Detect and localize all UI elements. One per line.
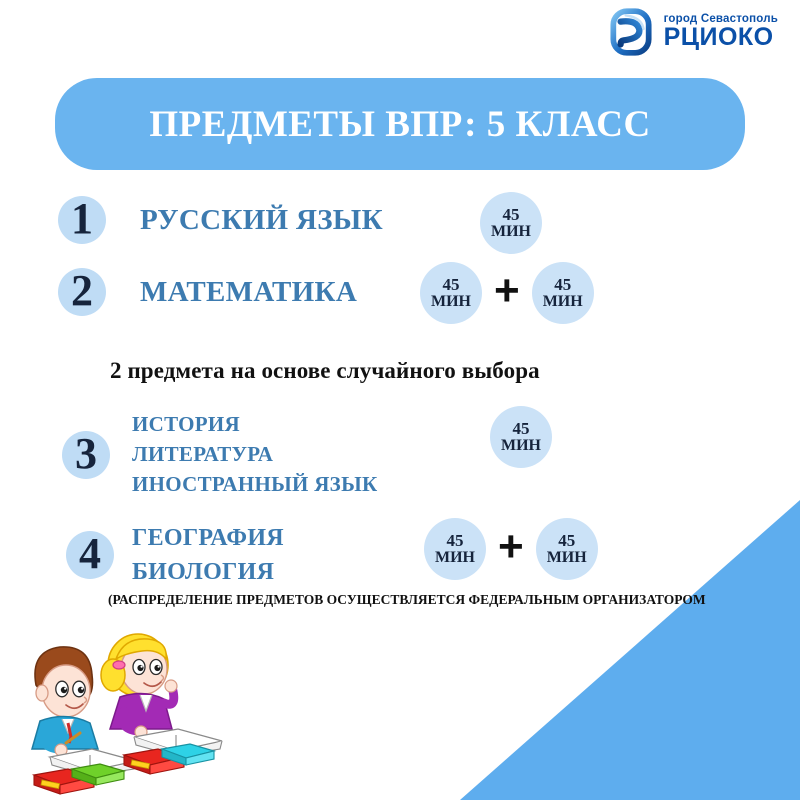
logo-text-block: город Севастополь РЦИОКО <box>664 14 778 50</box>
subject-list-row-3: ИСТОРИЯ ЛИТЕРАТУРА ИНОСТРАННЫЙ ЯЗЫК <box>132 410 378 499</box>
organization-logo: город Севастополь РЦИОКО <box>605 6 778 58</box>
book-stack <box>124 744 214 774</box>
subject-label-biology: БИОЛОГИЯ <box>132 555 284 589</box>
subject-label-foreign-language: ИНОСТРАННЫЙ ЯЗЫК <box>132 470 378 500</box>
row-number-4: 4 <box>79 532 101 576</box>
row-number-badge-3: 3 <box>62 431 110 479</box>
subject-row-4: 4 ГЕОГРАФИЯ БИОЛОГИЯ <box>66 521 284 589</box>
infographic-page: город Севастополь РЦИОКО ПРЕДМЕТЫ ВПР: 5… <box>0 0 800 800</box>
subject-label-russian: РУССКИЙ ЯЗЫК <box>140 204 383 237</box>
time-value: 45 <box>558 532 575 550</box>
subject-row-3: 3 ИСТОРИЯ ЛИТЕРАТУРА ИНОСТРАННЫЙ ЯЗЫК <box>62 410 378 499</box>
time-circle: 45 МИН <box>536 518 598 580</box>
time-value: 45 <box>503 206 520 224</box>
title-banner: ПРЕДМЕТЫ ВПР: 5 КЛАСС <box>55 78 745 170</box>
time-group-row-4: 45 МИН + 45 МИН <box>424 518 598 580</box>
plus-icon: + <box>494 269 520 317</box>
logo-name-label: РЦИОКО <box>664 26 774 50</box>
time-unit: МИН <box>543 294 583 311</box>
time-circle: 45 МИН <box>490 406 552 468</box>
row-number-badge-4: 4 <box>66 531 114 579</box>
time-unit: МИН <box>501 438 541 455</box>
time-group-row-1: 45 МИН <box>480 192 542 254</box>
row-number-badge-2: 2 <box>58 268 106 316</box>
time-circle: 45 МИН <box>532 262 594 324</box>
plus-icon: + <box>498 525 524 573</box>
time-unit: МИН <box>431 294 471 311</box>
subject-list-row-4: ГЕОГРАФИЯ БИОЛОГИЯ <box>132 521 284 589</box>
subject-label-literature: ЛИТЕРАТУРА <box>132 440 378 470</box>
page-title: ПРЕДМЕТЫ ВПР: 5 КЛАСС <box>149 103 650 146</box>
random-choice-note: 2 предмета на основе случайного выбора <box>110 358 540 384</box>
boy-figure <box>32 647 98 756</box>
time-unit: МИН <box>435 550 475 567</box>
time-circle: 45 МИН <box>480 192 542 254</box>
subject-label-geography: ГЕОГРАФИЯ <box>132 521 284 555</box>
time-value: 45 <box>447 532 464 550</box>
time-unit: МИН <box>547 550 587 567</box>
time-group-row-3: 45 МИН <box>490 406 552 468</box>
row-number-3: 3 <box>75 432 97 476</box>
time-group-row-2: 45 МИН + 45 МИН <box>420 262 594 324</box>
time-value: 45 <box>443 276 460 294</box>
time-value: 45 <box>554 276 571 294</box>
row-number-1: 1 <box>71 197 93 241</box>
time-unit: МИН <box>491 224 531 241</box>
girl-figure <box>101 634 177 738</box>
two-pupils-studying-illustration <box>8 623 248 798</box>
row-number-2: 2 <box>71 269 93 313</box>
book-stack <box>34 764 124 794</box>
time-value: 45 <box>513 420 530 438</box>
subject-label-history: ИСТОРИЯ <box>132 410 378 440</box>
rtsioko-emblem-icon <box>605 6 657 58</box>
time-circle: 45 МИН <box>420 262 482 324</box>
footnote-text: (РАСПРЕДЕЛЕНИЕ ПРЕДМЕТОВ ОСУЩЕСТВЛЯЕТСЯ … <box>108 592 706 608</box>
row-number-badge-1: 1 <box>58 196 106 244</box>
subject-row-1: 1 РУССКИЙ ЯЗЫК <box>58 196 383 244</box>
subject-label-math: МАТЕМАТИКА <box>140 276 357 309</box>
subject-row-2: 2 МАТЕМАТИКА <box>58 268 357 316</box>
time-circle: 45 МИН <box>424 518 486 580</box>
